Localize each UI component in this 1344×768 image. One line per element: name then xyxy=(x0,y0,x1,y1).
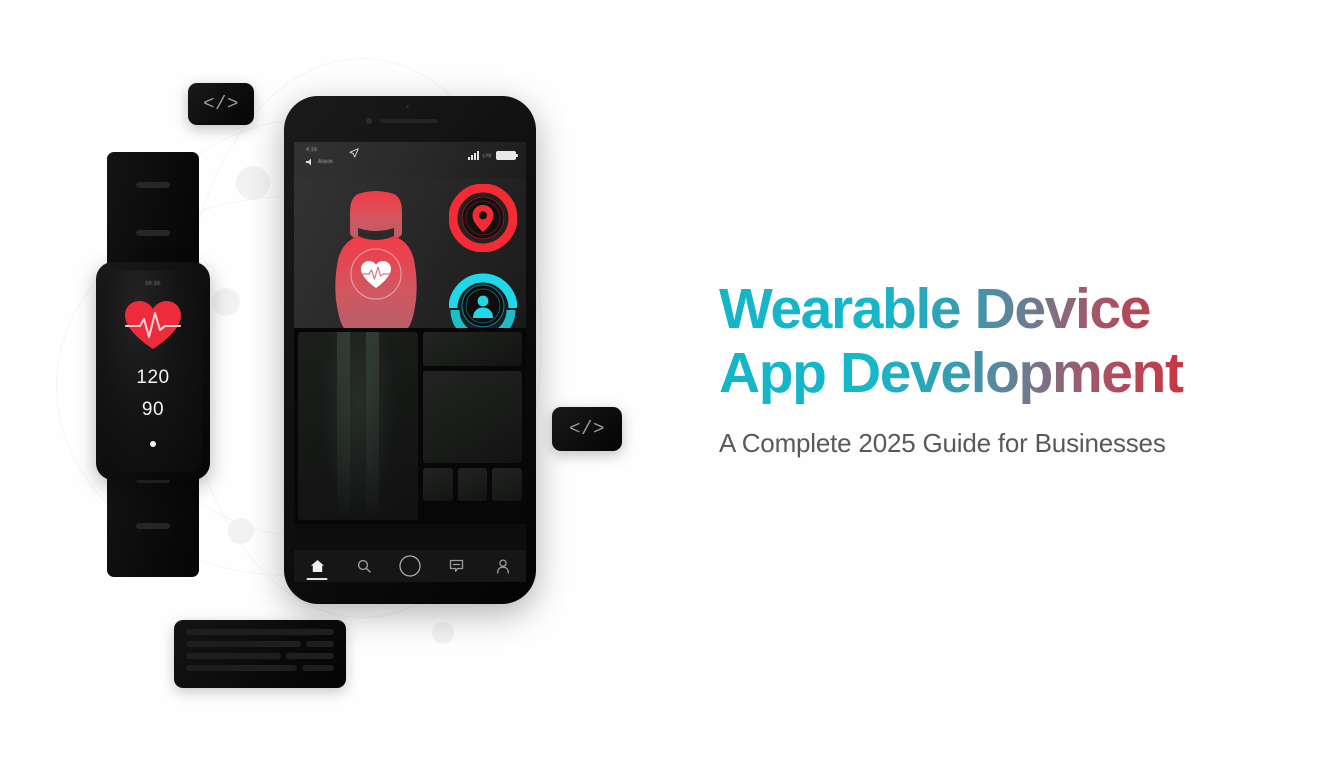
circle-icon xyxy=(398,554,422,578)
skeleton-bar xyxy=(302,665,335,671)
watch-body: 09:36 120 90 xyxy=(96,262,210,480)
location-active-icon xyxy=(349,148,359,158)
skeleton-row xyxy=(186,653,334,659)
signal-bars-icon xyxy=(468,151,479,160)
skeleton-bar xyxy=(186,629,334,635)
app-hero-section xyxy=(294,178,526,328)
strap-slot xyxy=(136,230,170,236)
watch-heart-rate-value: 120 xyxy=(136,368,169,387)
battery-icon xyxy=(496,151,516,160)
earpiece-speaker xyxy=(380,119,438,123)
nav-item-scan[interactable] xyxy=(393,554,427,578)
home-icon xyxy=(310,559,325,573)
strap-slot xyxy=(136,182,170,188)
nav-item-home[interactable] xyxy=(300,559,334,573)
leg-shape xyxy=(337,332,350,516)
skeleton-row xyxy=(186,665,334,671)
status-bar-left: 4:16 Alarm xyxy=(306,147,333,166)
status-time-label: 4:16 xyxy=(306,147,333,153)
code-badge-top[interactable]: </> xyxy=(188,83,254,125)
code-badge-bottom[interactable]: </> xyxy=(552,407,622,451)
smartwatch-mockup: 09:36 120 90 xyxy=(96,152,210,577)
network-type-label: LTE xyxy=(483,153,492,158)
person-outline-icon xyxy=(496,559,510,574)
skeleton-bar xyxy=(286,653,334,659)
skeleton-bar xyxy=(186,653,281,659)
nav-active-indicator xyxy=(307,578,328,580)
background-dot xyxy=(228,518,254,544)
content-panel-main[interactable] xyxy=(298,332,418,520)
status-bar-right: LTE xyxy=(468,151,516,160)
watch-time-label: 09:36 xyxy=(145,281,161,287)
skeleton-bar xyxy=(306,641,334,647)
watch-home-indicator[interactable] xyxy=(150,441,156,447)
content-card[interactable] xyxy=(423,332,522,366)
smartphone-mockup: 4:16 Alarm LTE xyxy=(284,96,536,604)
page-subtitle: A Complete 2025 Guide for Businesses xyxy=(719,428,1319,459)
content-card[interactable] xyxy=(492,468,522,501)
skeleton-row xyxy=(186,641,334,647)
chat-icon xyxy=(449,559,464,573)
background-dot xyxy=(236,166,270,200)
body-silhouette xyxy=(328,190,424,328)
heart-pulse-icon xyxy=(122,299,184,356)
body-lower-silhouette xyxy=(321,332,395,516)
front-camera-icon xyxy=(366,118,372,124)
headline-block: Wearable Device App Development A Comple… xyxy=(719,278,1319,459)
background-dot xyxy=(432,622,454,644)
status-alarm-label: Alarm xyxy=(318,159,333,165)
code-snippet-placeholder[interactable] xyxy=(174,620,346,688)
background-dot xyxy=(212,288,240,316)
nav-item-search[interactable] xyxy=(347,559,381,573)
bottom-navigation-bar xyxy=(294,550,526,582)
app-widget-column xyxy=(440,184,526,338)
page-title: Wearable Device App Development xyxy=(719,278,1319,406)
content-card[interactable] xyxy=(423,371,522,463)
leg-shape xyxy=(366,332,379,516)
watch-secondary-value: 90 xyxy=(142,400,164,419)
watch-screen[interactable]: 09:36 120 90 xyxy=(103,270,203,472)
status-bar: 4:16 Alarm LTE xyxy=(294,142,526,178)
location-widget[interactable] xyxy=(449,184,517,252)
content-card-row xyxy=(423,468,522,501)
content-panel-side xyxy=(423,332,522,520)
mute-icon xyxy=(306,158,315,166)
skeleton-row xyxy=(186,629,334,635)
strap-slot xyxy=(136,523,170,529)
skeleton-bar xyxy=(186,641,301,647)
skeleton-bar xyxy=(186,665,297,671)
content-card[interactable] xyxy=(423,468,453,501)
status-alarm-group: Alarm xyxy=(306,158,333,166)
search-icon xyxy=(357,559,371,573)
nav-item-profile[interactable] xyxy=(486,559,520,574)
content-card[interactable] xyxy=(458,468,488,501)
hero-banner: 09:36 120 90 4 xyxy=(0,0,1344,768)
app-content-panels xyxy=(294,328,526,524)
proximity-sensor-icon xyxy=(406,105,409,108)
nav-item-messages[interactable] xyxy=(439,559,473,573)
phone-screen: 4:16 Alarm LTE xyxy=(294,142,526,550)
phone-top-bezel xyxy=(284,96,536,142)
